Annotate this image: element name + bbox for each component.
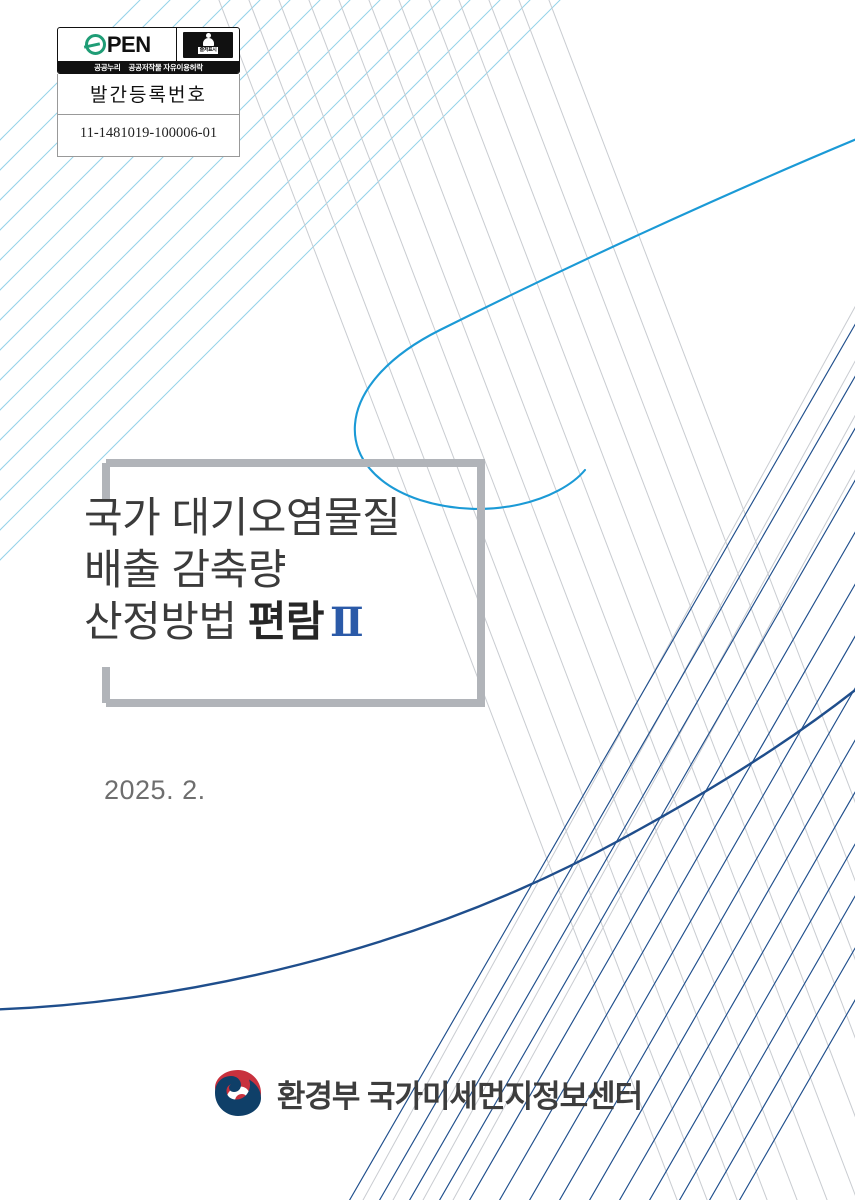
open-wordmark: PEN [85, 34, 151, 56]
open-logo: PEN [58, 28, 176, 61]
organization-name: 환경부 국가미세먼지정보센터 [277, 1071, 642, 1116]
open-attribution-area: 출처표시 [177, 28, 239, 61]
navy-sweep-curve [0, 670, 855, 1010]
person-silhouette-icon [203, 33, 214, 46]
open-wordmark-text: PEN [107, 34, 151, 56]
open-o-leaf-icon [85, 34, 106, 55]
attribution-chip: 출처표시 [183, 32, 233, 58]
korea-government-taegeuk-icon [213, 1068, 263, 1118]
registration-number-table: 발간등록번호 11-1481019-100006-01 [57, 74, 240, 157]
footer-organization: 환경부 국가미세먼지정보센터 [0, 1068, 855, 1118]
open-bottom-left-text: 공공누리 [94, 62, 120, 73]
navy-diagonal-lines [315, 290, 855, 1200]
publication-registration-block: PEN 출처표시 공공누리 공공저작물 자유이용허락 발간등록번호 11-148… [57, 27, 240, 157]
open-bottom-right-text: 공공저작물 자유이용허락 [129, 62, 203, 73]
title-line-3-strong: 편람 [248, 598, 324, 645]
page-title: 국가 대기오염물질 배출 감축량 산정방법 편람Ⅱ [84, 492, 514, 649]
cyan-swoosh-curve [355, 90, 855, 509]
open-license-badge: PEN 출처표시 공공누리 공공저작물 자유이용허락 [57, 27, 240, 74]
title-line-3: 산정방법 편람Ⅱ [84, 596, 514, 649]
publication-date: 2025. 2. [104, 775, 206, 806]
attribution-chip-label: 출처표시 [198, 47, 219, 54]
title-line-1: 국가 대기오염물질 [84, 492, 514, 544]
title-line-3-prefix: 산정방법 [84, 598, 248, 645]
open-badge-bottom-bar: 공공누리 공공저작물 자유이용허락 [58, 61, 239, 73]
cover-page: PEN 출처표시 공공누리 공공저작물 자유이용허락 발간등록번호 11-148… [0, 0, 855, 1200]
title-line-2: 배출 감축량 [84, 544, 514, 596]
open-badge-top: PEN 출처표시 [58, 28, 239, 61]
title-volume-numeral: Ⅱ [324, 600, 363, 645]
registration-header: 발간등록번호 [58, 74, 239, 115]
registration-number: 11-1481019-100006-01 [58, 115, 239, 156]
